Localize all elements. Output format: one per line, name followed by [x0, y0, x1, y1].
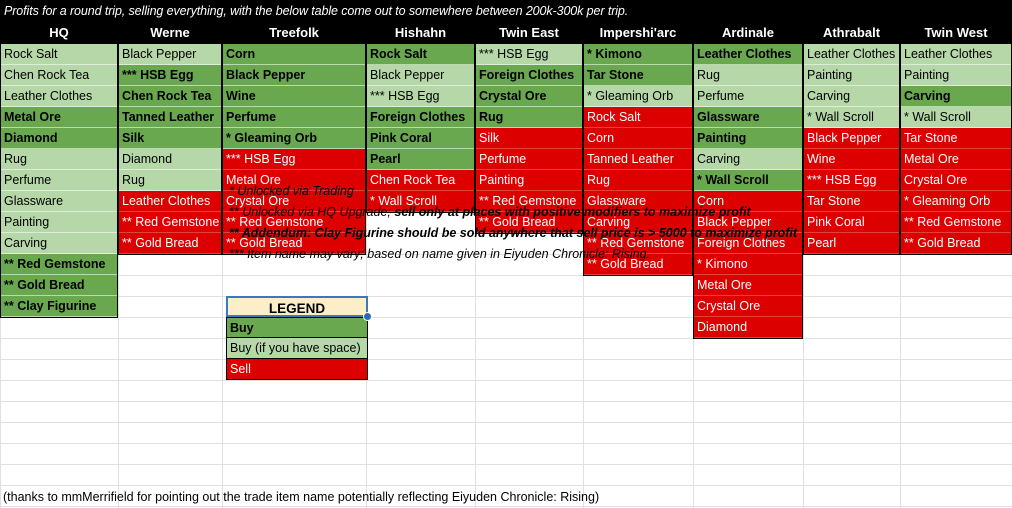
- trade-item-cell[interactable]: Chen Rock Tea: [1, 65, 117, 86]
- trade-item-cell[interactable]: Metal Ore: [901, 149, 1011, 170]
- legend-row-buy[interactable]: Buy: [226, 317, 368, 338]
- trade-item-cell[interactable]: Perfume: [223, 107, 365, 128]
- grid-row-line: [0, 401, 1012, 402]
- legend-row-buyspace[interactable]: Buy (if you have space): [226, 338, 368, 359]
- trade-item-cell[interactable]: Rock Salt: [584, 107, 692, 128]
- buy-block: Black Pepper*** HSB EggChen Rock TeaTann…: [118, 44, 222, 192]
- trade-item-cell[interactable]: * Kimono: [694, 254, 802, 275]
- note-two-star: ** Unlocked via HQ Upgrade; sell only at…: [226, 202, 751, 223]
- buy-block: * KimonoTar Stone* Gleaming Orb: [583, 44, 693, 108]
- note-one-star: * Unlocked via Trading: [226, 181, 354, 202]
- trade-item-cell[interactable]: Pink Coral: [367, 128, 474, 149]
- trade-item-cell[interactable]: Leather Clothes: [901, 44, 1011, 65]
- trade-item-cell[interactable]: Tar Stone: [584, 65, 692, 86]
- trade-item-cell[interactable]: Carving: [804, 86, 899, 107]
- note-two-star-bold: sell only at places with positive modifi…: [394, 205, 750, 219]
- grid-row-line: [0, 275, 1012, 276]
- sell-block: Tar StoneMetal OreCrystal Ore* Gleaming …: [900, 128, 1012, 255]
- trade-item-cell[interactable]: Chen Rock Tea: [367, 170, 474, 191]
- trade-item-cell[interactable]: Painting: [694, 128, 802, 149]
- grid-row-line: [0, 296, 1012, 297]
- trade-item-cell[interactable]: * Wall Scroll: [901, 107, 1011, 128]
- trade-item-cell[interactable]: Glassware: [694, 107, 802, 128]
- legend-box: LEGEND BuyBuy (if you have space)Sell: [226, 296, 368, 380]
- trade-item-cell[interactable]: *** HSB Egg: [223, 149, 365, 170]
- trade-item-cell[interactable]: Perfume: [1, 170, 117, 191]
- trade-item-cell[interactable]: * Wall Scroll: [694, 170, 802, 191]
- trade-item-cell[interactable]: Tanned Leather: [584, 149, 692, 170]
- grid-row-line: [0, 485, 1012, 486]
- trade-item-cell[interactable]: Painting: [804, 65, 899, 86]
- trade-item-cell[interactable]: ** Red Gemstone: [1, 254, 117, 275]
- trade-item-cell[interactable]: Chen Rock Tea: [119, 86, 221, 107]
- trade-item-cell[interactable]: Rock Salt: [1, 44, 117, 65]
- buy-block: Leather ClothesRugPerfumeGlasswarePainti…: [693, 44, 803, 192]
- trade-item-cell[interactable]: ** Clay Figurine: [1, 296, 117, 317]
- trade-item-cell[interactable]: ** Red Gemstone: [901, 212, 1011, 233]
- profit-summary-note: Profits for a round trip, selling everyt…: [0, 0, 1012, 22]
- trade-item-cell[interactable]: Black Pepper: [804, 128, 899, 149]
- trade-item-cell[interactable]: *** HSB Egg: [119, 65, 221, 86]
- buy-block: Rock SaltBlack Pepper*** HSB EggForeign …: [366, 44, 475, 171]
- trade-item-cell[interactable]: Leather Clothes: [694, 44, 802, 65]
- trade-item-cell[interactable]: Tar Stone: [901, 128, 1011, 149]
- legend-row-sell[interactable]: Sell: [226, 359, 368, 380]
- column-header-impershi-arc[interactable]: Impershi'arc: [583, 22, 693, 44]
- trade-item-cell[interactable]: *** HSB Egg: [476, 44, 582, 65]
- trade-item-cell[interactable]: Rug: [119, 170, 221, 191]
- trade-item-cell[interactable]: Perfume: [476, 149, 582, 170]
- trade-item-cell[interactable]: Wine: [804, 149, 899, 170]
- trade-item-cell[interactable]: Rug: [694, 65, 802, 86]
- fill-handle[interactable]: [363, 312, 372, 321]
- grid-row-line: [0, 464, 1012, 465]
- trade-item-cell[interactable]: Pink Coral: [804, 212, 899, 233]
- buy-block: Leather ClothesPaintingCarving* Wall Scr…: [803, 44, 900, 129]
- trade-item-cell[interactable]: Crystal Ore: [476, 86, 582, 107]
- note-three-star: *** Item name may vary; based on name gi…: [226, 244, 650, 265]
- trade-item-cell[interactable]: Rug: [476, 107, 582, 128]
- buy-block: *** HSB EggForeign ClothesCrystal OreRug: [475, 44, 583, 129]
- trade-item-cell[interactable]: * Kimono: [584, 44, 692, 65]
- trade-item-cell[interactable]: Pearl: [367, 149, 474, 170]
- trade-item-cell[interactable]: Metal Ore: [1, 107, 117, 128]
- column-header-treefolk[interactable]: Treefolk: [222, 22, 366, 44]
- trade-item-cell[interactable]: ** Gold Bread: [1, 275, 117, 296]
- trade-item-cell[interactable]: Foreign Clothes: [476, 65, 582, 86]
- credit-line: (thanks to mmMerrifield for pointing out…: [3, 487, 599, 508]
- trade-item-cell[interactable]: Leather Clothes: [1, 86, 117, 107]
- sell-block: Leather Clothes** Red Gemstone** Gold Br…: [118, 191, 222, 255]
- trade-item-cell[interactable]: * Gleaming Orb: [584, 86, 692, 107]
- trade-item-cell[interactable]: Carving: [901, 86, 1011, 107]
- trade-item-cell[interactable]: Diamond: [694, 317, 802, 338]
- trade-item-cell[interactable]: Silk: [476, 128, 582, 149]
- trade-item-cell[interactable]: ** Gold Bread: [901, 233, 1011, 254]
- trade-item-cell[interactable]: Tanned Leather: [119, 107, 221, 128]
- sell-block: Black PepperWine*** HSB EggTar StonePink…: [803, 128, 900, 255]
- trade-item-cell[interactable]: ** Gold Bread: [119, 233, 221, 254]
- column-header-twin-west[interactable]: Twin West: [900, 22, 1012, 44]
- grid-row-line: [0, 338, 1012, 339]
- trade-item-cell[interactable]: Rug: [1, 149, 117, 170]
- grid-row-line: [0, 359, 1012, 360]
- trade-item-cell[interactable]: *** HSB Egg: [804, 170, 899, 191]
- trade-item-cell[interactable]: Leather Clothes: [804, 44, 899, 65]
- trade-item-cell[interactable]: Carving: [694, 149, 802, 170]
- trade-item-cell[interactable]: Silk: [119, 128, 221, 149]
- trade-item-cell[interactable]: Wine: [223, 86, 365, 107]
- trade-item-cell[interactable]: Tar Stone: [804, 191, 899, 212]
- trade-item-cell[interactable]: Perfume: [694, 86, 802, 107]
- trade-item-cell[interactable]: Leather Clothes: [119, 191, 221, 212]
- trade-item-cell[interactable]: Glassware: [1, 191, 117, 212]
- column-header-twin-east[interactable]: Twin East: [475, 22, 583, 44]
- trade-item-cell[interactable]: * Wall Scroll: [804, 107, 899, 128]
- grid-row-line: [0, 380, 1012, 381]
- trade-item-cell[interactable]: * Gleaming Orb: [901, 191, 1011, 212]
- grid-row-line: [0, 317, 1012, 318]
- buy-block: CornBlack PepperWinePerfume* Gleaming Or…: [222, 44, 366, 150]
- trade-item-cell[interactable]: Black Pepper: [367, 65, 474, 86]
- trade-item-cell[interactable]: Painting: [901, 65, 1011, 86]
- trade-item-cell[interactable]: Diamond: [1, 128, 117, 149]
- column-header-hishahn[interactable]: Hishahn: [366, 22, 475, 44]
- trade-item-cell[interactable]: *** HSB Egg: [367, 86, 474, 107]
- trade-item-cell[interactable]: Rock Salt: [367, 44, 474, 65]
- column-header-athrabalt[interactable]: Athrabalt: [803, 22, 900, 44]
- trade-item-cell[interactable]: Painting: [1, 212, 117, 233]
- trade-item-cell[interactable]: Painting: [476, 170, 582, 191]
- column-header-ardinale[interactable]: Ardinale: [693, 22, 803, 44]
- buy-block: Rock SaltChen Rock TeaLeather ClothesMet…: [0, 44, 118, 318]
- trade-item-cell[interactable]: Pearl: [804, 233, 899, 254]
- trade-item-cell[interactable]: Crystal Ore: [901, 170, 1011, 191]
- legend-title[interactable]: LEGEND: [226, 296, 368, 317]
- trade-item-cell[interactable]: Black Pepper: [223, 65, 365, 86]
- trade-item-cell[interactable]: Black Pepper: [119, 44, 221, 65]
- legend-rows: BuyBuy (if you have space)Sell: [226, 317, 368, 380]
- column-header-hq[interactable]: HQ: [0, 22, 118, 44]
- grid-row-line: [0, 422, 1012, 423]
- trade-item-cell[interactable]: ** Red Gemstone: [119, 212, 221, 233]
- trade-item-cell[interactable]: Corn: [223, 44, 365, 65]
- trade-item-cell[interactable]: Carving: [1, 233, 117, 254]
- buy-block: Leather ClothesPaintingCarving* Wall Scr…: [900, 44, 1012, 129]
- trade-item-cell[interactable]: Corn: [584, 128, 692, 149]
- town-header-row: HQWerneTreefolkHishahnTwin EastImpershi'…: [0, 22, 1012, 44]
- trade-item-cell[interactable]: Diamond: [119, 149, 221, 170]
- trade-item-cell[interactable]: Crystal Ore: [694, 296, 802, 317]
- spreadsheet-grid[interactable]: Rock SaltChen Rock TeaLeather ClothesMet…: [0, 44, 1012, 508]
- trade-item-cell[interactable]: * Gleaming Orb: [223, 128, 365, 149]
- trade-item-cell[interactable]: Rug: [584, 170, 692, 191]
- note-two-star-plain: ** Unlocked via HQ Upgrade;: [229, 205, 391, 219]
- grid-row-line: [0, 443, 1012, 444]
- trade-item-cell[interactable]: Foreign Clothes: [367, 107, 474, 128]
- trade-item-cell[interactable]: Metal Ore: [694, 275, 802, 296]
- note-addendum: ** Addendum: Clay Figurine should be sol…: [226, 223, 797, 244]
- column-header-werne[interactable]: Werne: [118, 22, 222, 44]
